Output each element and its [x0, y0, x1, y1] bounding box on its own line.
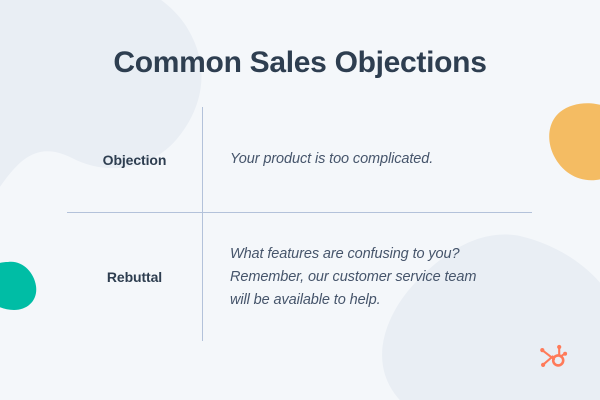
body-line: What features are confusing to you?	[230, 243, 532, 266]
hubspot-sprocket-logo	[538, 342, 568, 370]
row-body-rebuttal: What features are confusing to you? Reme…	[202, 243, 532, 312]
slide-canvas: Common Sales Objections Objection Your p…	[0, 0, 600, 400]
body-line: Your product is too complicated.	[230, 148, 532, 171]
row-label-rebuttal: Rebuttal	[67, 269, 202, 285]
body-line: will be available to help.	[230, 289, 532, 312]
table-row: Objection Your product is too complicate…	[67, 107, 532, 212]
table-row: Rebuttal What features are confusing to …	[67, 213, 532, 341]
page-title: Common Sales Objections	[0, 43, 600, 83]
slide-content: Common Sales Objections Objection Your p…	[0, 0, 600, 400]
body-line: Remember, our customer service team	[230, 266, 532, 289]
row-body-objection: Your product is too complicated.	[202, 148, 532, 171]
row-label-objection: Objection	[67, 152, 202, 168]
